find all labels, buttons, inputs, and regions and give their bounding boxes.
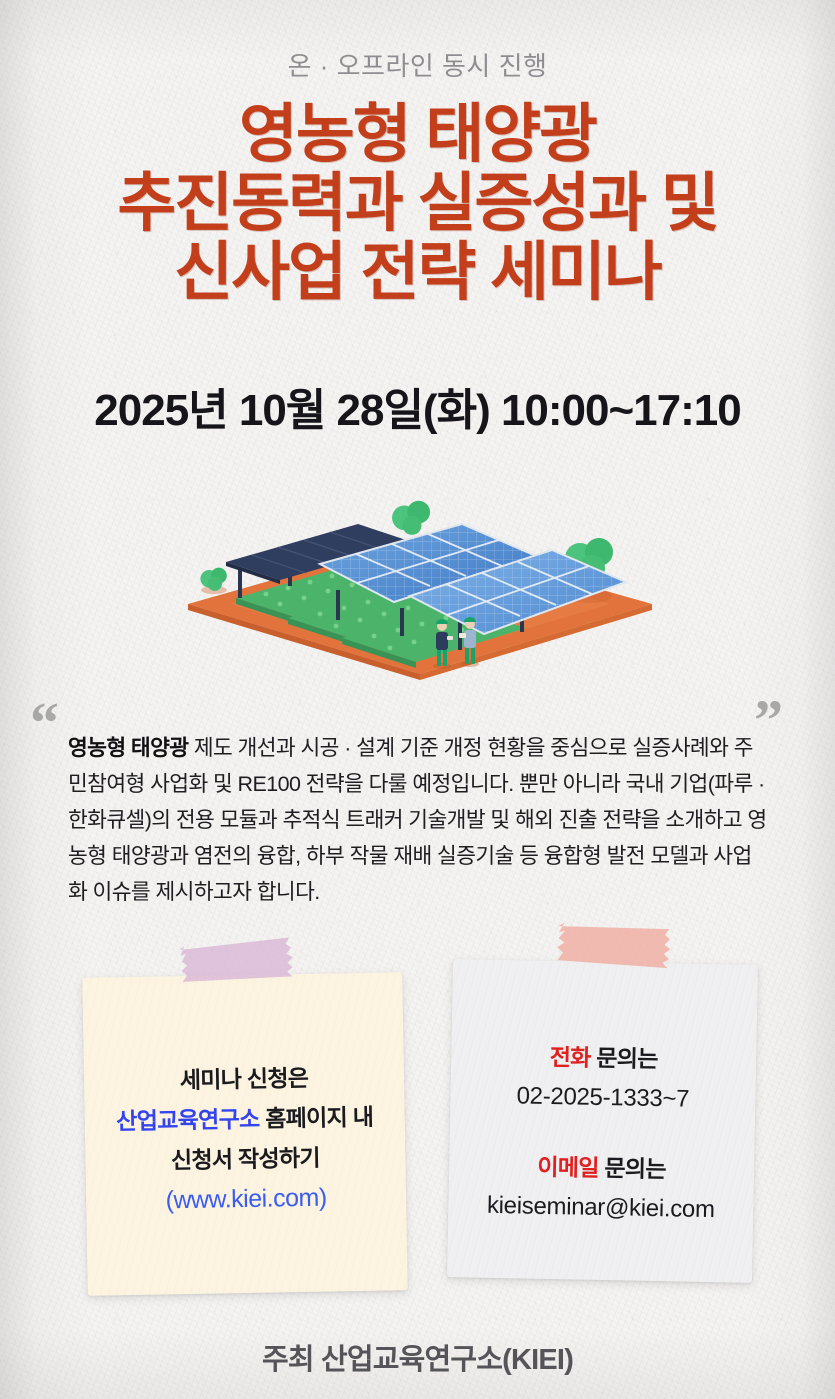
email-label: 이메일 문의는 [449, 1145, 755, 1191]
application-line-2-rest: 홈페이지 내 [259, 1104, 373, 1132]
page-title: 영농형 태양광 추진동력과 실증성과 및 신사업 전략 세미나 [0, 100, 835, 307]
application-line-2: 산업교육연구소 홈페이지 내 [84, 1096, 405, 1142]
agrivoltaic-solar-farm-illustration [170, 478, 670, 683]
intro-paragraph-lead: 영농형 태양광 [68, 736, 188, 760]
contact-card-text: 전화 문의는 02-2025-1333~7 이메일 문의는 kieisemina… [448, 1035, 757, 1231]
title-line-3: 신사업 전략 세미나 [0, 238, 835, 307]
phone-label-rest: 문의는 [590, 1045, 658, 1072]
intro-paragraph: 영농형 태양광 제도 개선과 시공 · 설계 기준 개정 현황을 중심으로 실증… [68, 730, 768, 910]
phone-label: 전화 문의는 [451, 1035, 757, 1081]
poster-content: 온 · 오프라인 동시 진행 영농형 태양광 추진동력과 실증성과 및 신사업 … [0, 0, 835, 1399]
email-address[interactable]: kieiseminar@kiei.com [448, 1185, 754, 1231]
application-line-3: 신청서 작성하기 [85, 1136, 406, 1182]
phone-number[interactable]: 02-2025-1333~7 [450, 1075, 756, 1121]
kicker-text: 온 · 오프라인 동시 진행 [0, 46, 835, 83]
application-line-1: 세미나 신청은 [84, 1056, 405, 1102]
application-card-text: 세미나 신청은 산업교육연구소 홈페이지 내 신청서 작성하기 (www.kie… [84, 1056, 407, 1222]
host-footer: 주최 산업교육연구소(KIEI) [0, 1336, 835, 1378]
date-time-text: 2025년 10월 28일(화) 10:00~17:10 [0, 374, 835, 438]
organization-name: 산업교육연구소 [116, 1106, 260, 1134]
quote-open-icon: “ [30, 694, 59, 752]
intro-paragraph-body: 제도 개선과 시공 · 설계 기준 개정 현황을 중심으로 실증사례와 주민참여… [68, 736, 767, 904]
title-line-2: 추진동력과 실증성과 및 [0, 169, 835, 238]
poster-root: 온 · 오프라인 동시 진행 영농형 태양광 추진동력과 실증성과 및 신사업 … [0, 0, 835, 1399]
website-url[interactable]: (www.kiei.com) [86, 1176, 407, 1222]
intro-quote-block: “ ” 영농형 태양광 제도 개선과 시공 · 설계 기준 개정 현황을 중심으… [0, 686, 835, 896]
contact-card[interactable]: 전화 문의는 02-2025-1333~7 이메일 문의는 kieisemina… [447, 959, 758, 1283]
email-label-rest: 문의는 [599, 1155, 667, 1182]
title-line-1: 영농형 태양광 [0, 100, 835, 169]
application-card[interactable]: 세미나 신청은 산업교육연구소 홈페이지 내 신청서 작성하기 (www.kie… [82, 972, 408, 1296]
email-label-accent: 이메일 [537, 1154, 599, 1181]
phone-label-accent: 전화 [549, 1044, 590, 1071]
washi-tape-salmon-icon [552, 921, 674, 971]
